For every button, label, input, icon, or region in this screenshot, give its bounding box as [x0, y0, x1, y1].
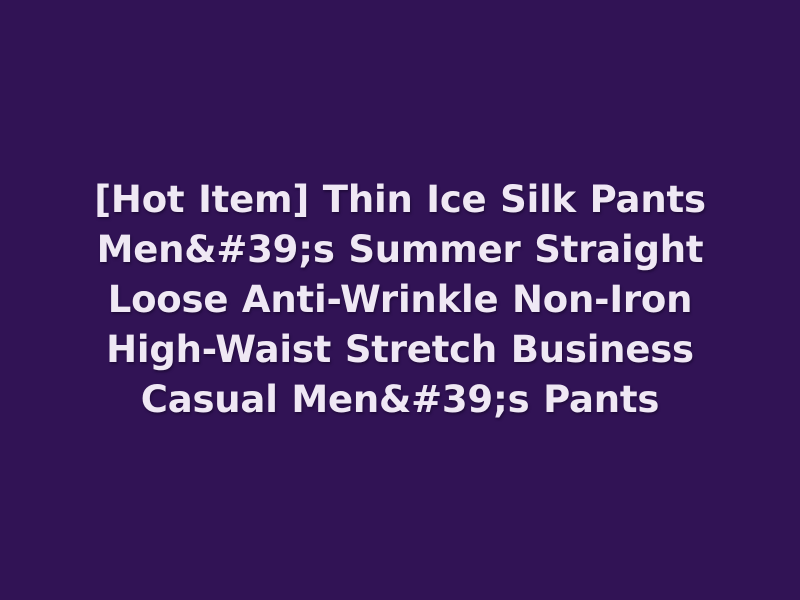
product-title-card: [Hot Item] Thin Ice Silk Pants Men&#39;s…	[0, 0, 800, 600]
page-title: [Hot Item] Thin Ice Silk Pants Men&#39;s…	[50, 175, 750, 425]
